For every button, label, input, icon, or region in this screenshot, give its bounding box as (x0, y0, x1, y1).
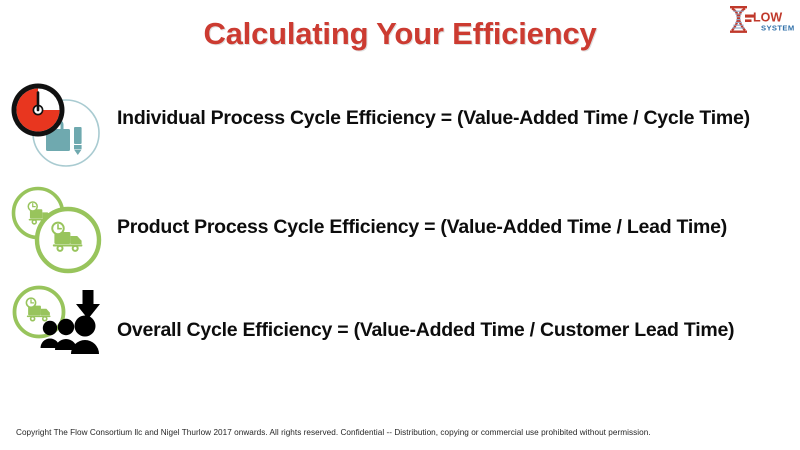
two-truck-clock-circles-icon (4, 183, 116, 279)
pie-clock-briefcase-pencil-icon (4, 78, 116, 174)
page-title: Calculating Your Efficiency (0, 16, 800, 52)
truck-clock-circle-arrow-people-icon (4, 282, 116, 378)
formula-text-overall: Overall Cycle Efficiency = (Value-Added … (117, 308, 734, 352)
pencil-icon (74, 127, 82, 155)
slide-canvas: LOW SYSTEM Calculating Your Efficiency (0, 0, 800, 450)
people-group-icon (41, 316, 100, 355)
formula-text-product: Product Process Cycle Efficiency = (Valu… (117, 205, 727, 249)
formula-row-product: Product Process Cycle Efficiency = (Valu… (0, 183, 800, 279)
formula-row-individual: Individual Process Cycle Efficiency = (V… (0, 78, 800, 174)
formula-row-overall: Overall Cycle Efficiency = (Value-Added … (0, 282, 800, 378)
formula-text-individual: Individual Process Cycle Efficiency = (V… (117, 96, 750, 140)
truck-clock-circle-large (37, 209, 99, 271)
pie-clock-icon (12, 84, 65, 137)
copyright-footer: Copyright The Flow Consortium llc and Ni… (16, 428, 651, 437)
down-arrow-icon (76, 290, 100, 319)
